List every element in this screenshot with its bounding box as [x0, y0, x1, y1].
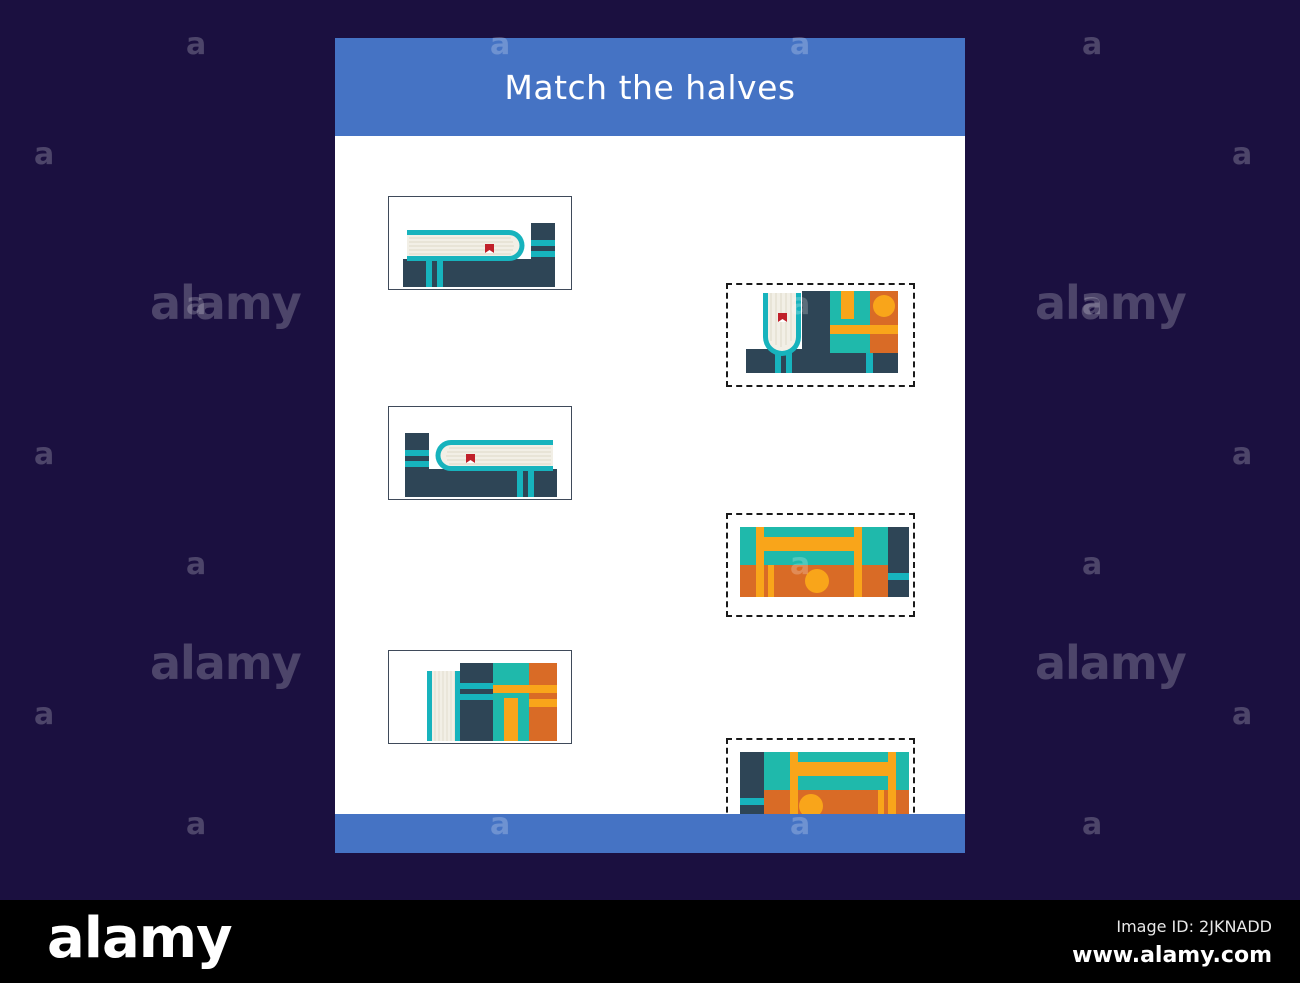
right-item-2-frame[interactable] — [726, 513, 915, 617]
page-title: Match the halves — [504, 68, 795, 107]
watermark-word: alamy — [150, 280, 301, 326]
worksheet-footer — [335, 814, 965, 853]
watermark-letter: a — [1232, 700, 1252, 730]
watermark-letter: a — [1232, 140, 1252, 170]
watermark-word: alamy — [1035, 280, 1186, 326]
watermark-letter: a — [186, 290, 206, 320]
watermark-word: alamy — [1035, 640, 1186, 686]
worksheet-board — [335, 136, 965, 814]
open-book-facing-right-icon — [389, 197, 571, 289]
watermark-letter: a — [34, 440, 54, 470]
watermark-letter: a — [186, 550, 206, 580]
watermark-word: alamy — [150, 640, 301, 686]
watermark-letter: a — [1082, 810, 1102, 840]
watermark-letter: a — [34, 700, 54, 730]
alamy-logo: alamy — [47, 911, 232, 967]
standing-books-row-icon — [389, 651, 571, 743]
worksheet-header: Match the halves — [335, 38, 965, 136]
book-half-open-book-and-stack-icon — [728, 285, 909, 381]
alamy-watermark-strip: alamy Image ID: 2JKNADD www.alamy.com — [0, 900, 1300, 983]
worksheet-card: Match the halves — [335, 38, 965, 853]
watermark-letter: a — [1082, 290, 1102, 320]
book-half-stacked-books-left-icon — [728, 521, 909, 617]
left-item-1-frame[interactable] — [388, 196, 572, 290]
left-item-2-frame[interactable] — [388, 406, 572, 500]
alamy-url-label: www.alamy.com — [1072, 943, 1272, 968]
watermark-letter: a — [1082, 550, 1102, 580]
image-id-label: Image ID: 2JKNADD — [1116, 917, 1272, 936]
watermark-letter: a — [34, 140, 54, 170]
watermark-letter: a — [1082, 30, 1102, 60]
watermark-letter: a — [186, 810, 206, 840]
watermark-letter: a — [186, 30, 206, 60]
right-item-1-frame[interactable] — [726, 283, 915, 387]
open-book-facing-left-icon — [389, 407, 571, 499]
watermark-letter: a — [1232, 440, 1252, 470]
left-item-3-frame[interactable] — [388, 650, 572, 744]
